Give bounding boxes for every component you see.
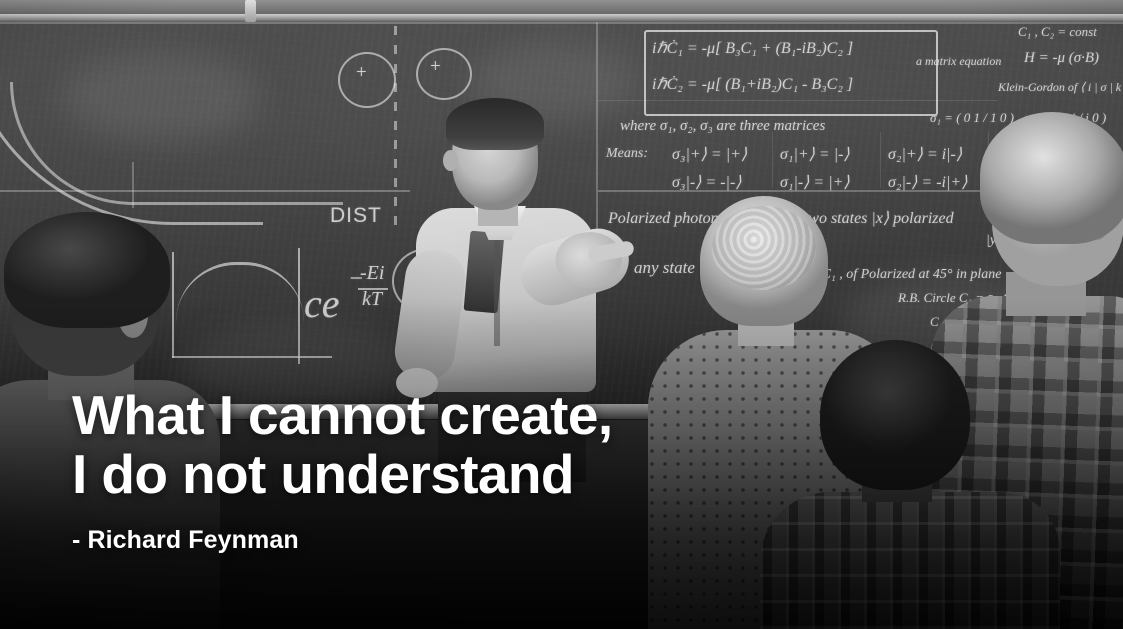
chalk-hamiltonian: H = -μ (σ·B) <box>1024 50 1099 67</box>
chalk-column-divider <box>772 132 773 188</box>
chalk-means-row2-col2: σ₁|-⟩ = |+⟩ <box>780 172 850 192</box>
chalk-label-dist: DIST <box>330 204 382 228</box>
board-rule-horizontal-2 <box>598 100 998 101</box>
board-seam-vertical <box>394 26 397 234</box>
chalk-plot-axis-x <box>172 356 332 358</box>
student-plaid-right-hair <box>980 112 1123 244</box>
chalk-equation-1: iℏĊ₁ = -μ[ B₃C₁ + (B₁-iB₂)C₂ ] <box>652 38 853 58</box>
board-seam-top <box>0 22 1123 24</box>
lecturer-ear <box>443 150 458 171</box>
chalk-axis-vertical <box>132 162 134 208</box>
quote-overlay: What I cannot create, I do not understan… <box>72 386 852 555</box>
chalk-equation-2: iℏĊ₂ = -μ[ (B₁+iB₂)C₁ - B₃C₂ ] <box>652 74 853 94</box>
chalk-any-state: any state <box>634 258 695 278</box>
chalk-circle-charge <box>338 52 396 108</box>
chalk-curve-exponential-2 <box>10 82 343 205</box>
chalk-expectation-value: Klein-Gordon of ⟨ i | σ | k ⟩ <box>998 80 1123 95</box>
chalk-means-row1-col2: σ₁|+⟩ = |-⟩ <box>780 144 850 164</box>
chalk-exponent-denominator: kT <box>362 288 382 311</box>
chalk-asymptote <box>0 190 410 192</box>
chalk-plot-hump <box>176 262 304 357</box>
chalk-minus-sign: − <box>348 266 364 293</box>
chalk-plot-axis-y2 <box>298 248 300 364</box>
chalk-plus-mark: + <box>356 62 367 84</box>
chalk-formula-boltzmann: ce <box>304 280 340 327</box>
chalk-means-row1-col3: σ₂|+⟩ = i|-⟩ <box>888 144 962 164</box>
quote-line-1: What I cannot create, <box>72 386 852 445</box>
quote-image: + + + DIST ce − -Ei kT iℏĊ₁ = -μ[ B₃C₁ +… <box>0 0 1123 629</box>
chalk-c-constants: C₁ , C₂ = const <box>1018 24 1097 40</box>
chalk-matrix-equation-label: a matrix equation <box>916 54 1001 69</box>
chalk-exponent-numerator: -Ei <box>360 262 384 285</box>
board-seam-right <box>596 22 598 250</box>
chalk-means-row2-col1: σ₃|-⟩ = -|-⟩ <box>672 172 742 192</box>
quote-attribution: - Richard Feynman <box>72 525 852 555</box>
chalk-means-label: Means: <box>606 146 648 162</box>
chalk-circle-charge <box>416 48 472 100</box>
chalk-plus-mark: + <box>430 56 441 78</box>
chalk-curve-exponential <box>0 12 263 225</box>
chalk-fraction-bar <box>358 288 388 290</box>
chalk-column-divider <box>880 132 881 188</box>
chalk-equation-box <box>644 30 938 116</box>
lecturer-shirt-placket <box>494 226 500 346</box>
chalk-smudge <box>60 52 260 142</box>
chalk-where-line: where σ₁, σ₂, σ₃ are three matrices <box>620 118 825 135</box>
chalk-plot-axis-y <box>172 252 174 358</box>
chalk-state-expansion: |ψ⟩ C₁ , of Polarized at 45° in plane <box>800 266 1002 283</box>
student-blonde-hair-texture <box>712 206 816 290</box>
lecturer-hair <box>446 98 544 150</box>
student-left-hair <box>4 212 170 328</box>
chalk-means-row1-col1: σ₃|+⟩ = |+⟩ <box>672 144 747 164</box>
quote-line-2: I do not understand <box>72 445 852 504</box>
chalk-means-row2-col3: σ₂|-⟩ = -i|+⟩ <box>888 172 967 192</box>
